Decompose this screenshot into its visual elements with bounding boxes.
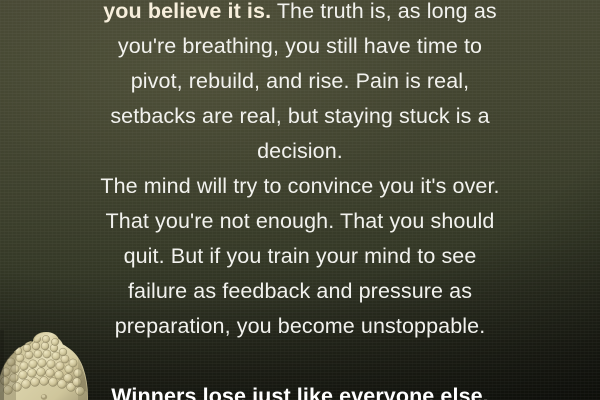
quote-image-canvas: you believe it is. The truth is, as long…: [0, 0, 600, 400]
quote-line-2: you're breathing, you still have time to: [18, 29, 582, 64]
quote-line-5: decision.: [18, 134, 582, 169]
quote-blank-line: [18, 344, 582, 379]
quote-line-8: quit. But if you train your mind to see: [18, 239, 582, 274]
buddha-head-statue-icon: [0, 330, 100, 400]
quote-line-10: preparation, you become unstoppable.: [18, 309, 582, 344]
quote-line-1: you believe it is. The truth is, as long…: [18, 0, 582, 29]
quote-line-1-highlight: you believe it is.: [103, 0, 271, 23]
quote-line-4: setbacks are real, but staying stuck is …: [18, 99, 582, 134]
quote-line-9: failure as feedback and pressure as: [18, 274, 582, 309]
quote-line-1-rest: The truth is, as long as: [271, 0, 497, 23]
quote-final-line: Winners lose just like everyone else.: [18, 379, 582, 400]
quote-line-3: pivot, rebuild, and rise. Pain is real,: [18, 64, 582, 99]
quote-line-7: That you're not enough. That you should: [18, 204, 582, 239]
quote-line-6: The mind will try to convince you it's o…: [18, 169, 582, 204]
